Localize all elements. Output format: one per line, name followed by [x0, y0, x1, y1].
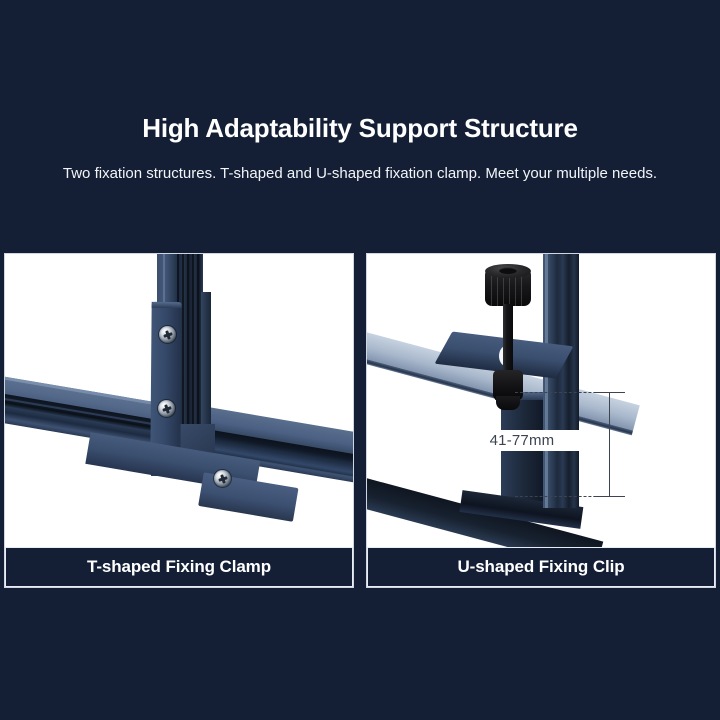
u-vertical-post — [543, 254, 579, 508]
knob-center-dimple — [499, 267, 517, 274]
hex-screw-icon — [214, 470, 231, 487]
u-clip-channel — [501, 394, 547, 502]
hex-screw-icon — [159, 326, 176, 343]
header-section: High Adaptability Support Structure Two … — [0, 0, 720, 248]
caption-u-shaped-clip: U-shaped Fixing Clip — [367, 547, 715, 587]
t-post-side-wing — [201, 292, 211, 442]
t-bracket-top-cap — [152, 302, 182, 308]
t-clamp-photo — [5, 254, 353, 547]
page-subtitle: Two fixation structures. T-shaped and U-… — [45, 163, 675, 186]
u-clip-photo: 41-77mm — [367, 254, 715, 547]
dimension-cap-top — [595, 392, 625, 393]
panel-t-shaped-clamp: T-shaped Fixing Clamp — [4, 253, 354, 588]
u-post-highlight — [545, 254, 548, 508]
knob-pressure-pad-tip — [496, 396, 520, 410]
page-title: High Adaptability Support Structure — [142, 112, 577, 145]
panel-u-shaped-clip: 41-77mm U-shaped Fixing Clip — [366, 253, 716, 588]
caption-t-shaped-clamp: T-shaped Fixing Clamp — [5, 547, 353, 587]
product-panels: T-shaped Fixing Clamp — [4, 253, 716, 588]
hex-screw-icon — [158, 400, 175, 417]
